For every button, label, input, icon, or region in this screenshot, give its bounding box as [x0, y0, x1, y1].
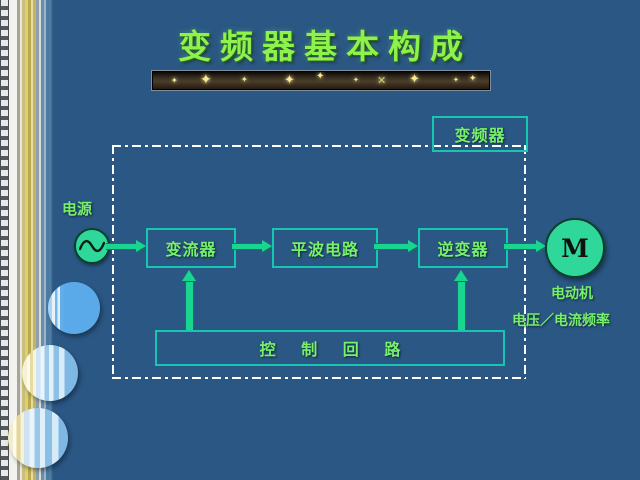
block-inverter: 逆变器 — [418, 228, 508, 268]
block-smoothing-circuit: 平波电路 — [272, 228, 378, 268]
sine-wave-icon — [79, 238, 105, 254]
motor-symbol: M — [545, 218, 605, 278]
block-control-circuit: 控 制 回 路 — [155, 330, 505, 366]
vfd-label-box: 变频器 — [432, 116, 528, 152]
vfd-boundary-left — [112, 145, 114, 379]
vfd-boundary-bottom — [112, 377, 526, 379]
decorative-circle-middle — [22, 345, 78, 401]
block-converter: 变流器 — [146, 228, 236, 268]
film-perforation-strip — [0, 0, 9, 480]
arrow-inverter-to-motor — [504, 240, 546, 251]
decorative-circle-top — [48, 282, 100, 334]
sparkle-icon: ✕ — [377, 75, 386, 86]
title-decorative-bar: ✦ ✦ ✦ ✦ ✦ ✦ ✕ ✦ ✦ ✦ — [152, 71, 490, 90]
vfd-label-text: 变频器 — [454, 122, 505, 146]
power-source-label: 电源 — [62, 198, 92, 219]
decorative-circle-bottom — [8, 408, 68, 468]
arrow-source-to-converter — [106, 240, 146, 251]
sparkle-icon: ✦ — [200, 73, 212, 87]
arrow-converter-to-smoothing — [232, 240, 272, 251]
sparkle-icon: ✦ — [284, 74, 295, 87]
motor-symbol-letter: M — [561, 234, 589, 263]
vfd-boundary-right — [524, 145, 526, 379]
block-smoothing-label: 平波电路 — [291, 236, 359, 260]
block-converter-label: 变流器 — [165, 236, 216, 260]
block-inverter-label: 逆变器 — [437, 236, 488, 260]
ac-source-icon — [74, 228, 110, 264]
motor-output-label: 电压／电流频率 — [512, 310, 610, 330]
sparkle-icon: ✦ — [171, 77, 178, 85]
sparkle-icon: ✦ — [469, 75, 477, 84]
arrow-control-to-converter — [182, 270, 195, 330]
sparkle-icon: ✦ — [316, 72, 324, 82]
arrow-control-to-inverter — [454, 270, 467, 330]
block-control-label: 控 制 回 路 — [260, 336, 411, 360]
presentation-slide: 变频器基本构成 ✦ ✦ ✦ ✦ ✦ ✦ ✕ ✦ ✦ ✦ 变频器 电源 变流器 — [0, 0, 640, 480]
sparkle-icon: ✦ — [409, 73, 420, 86]
page-title: 变频器基本构成 — [160, 20, 490, 68]
motor-label: 电动机 — [551, 283, 593, 303]
sparkle-icon: ✦ — [241, 76, 248, 84]
sparkle-icon: ✦ — [353, 77, 359, 84]
sparkle-icon: ✦ — [453, 77, 459, 84]
stripe-band-edge — [50, 0, 53, 480]
arrow-smoothing-to-inverter — [374, 240, 418, 251]
